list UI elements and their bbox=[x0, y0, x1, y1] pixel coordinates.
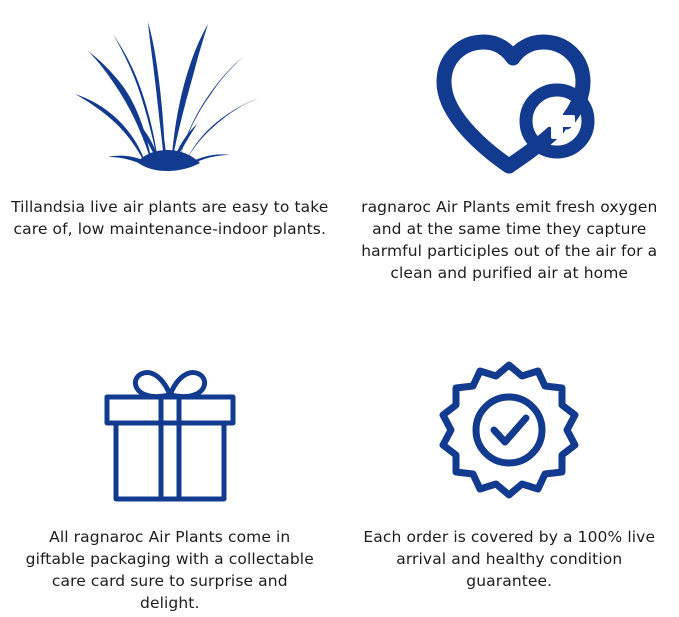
feature-caption: Tillandsia live air plants are easy to t… bbox=[8, 196, 332, 240]
gift-box-icon bbox=[75, 341, 265, 526]
feature-card-live-arrival-guarantee: Each order is covered by a 100% live arr… bbox=[340, 309, 679, 617]
badge-check-icon bbox=[414, 341, 604, 526]
feature-caption: ragnaroc Air Plants emit fresh oxygen an… bbox=[349, 196, 669, 284]
air-plant-icon bbox=[75, 6, 265, 196]
feature-card-fresh-oxygen: ragnaroc Air Plants emit fresh oxygen an… bbox=[340, 0, 679, 309]
feature-caption: All ragnaroc Air Plants come in giftable… bbox=[20, 526, 320, 614]
feature-caption: Each order is covered by a 100% live arr… bbox=[354, 526, 664, 592]
feature-grid: Tillandsia live air plants are easy to t… bbox=[0, 0, 679, 617]
feature-card-giftable-packaging: All ragnaroc Air Plants come in giftable… bbox=[0, 309, 340, 617]
feature-card-easy-care: Tillandsia live air plants are easy to t… bbox=[0, 0, 340, 309]
heart-plus-icon bbox=[414, 6, 604, 196]
